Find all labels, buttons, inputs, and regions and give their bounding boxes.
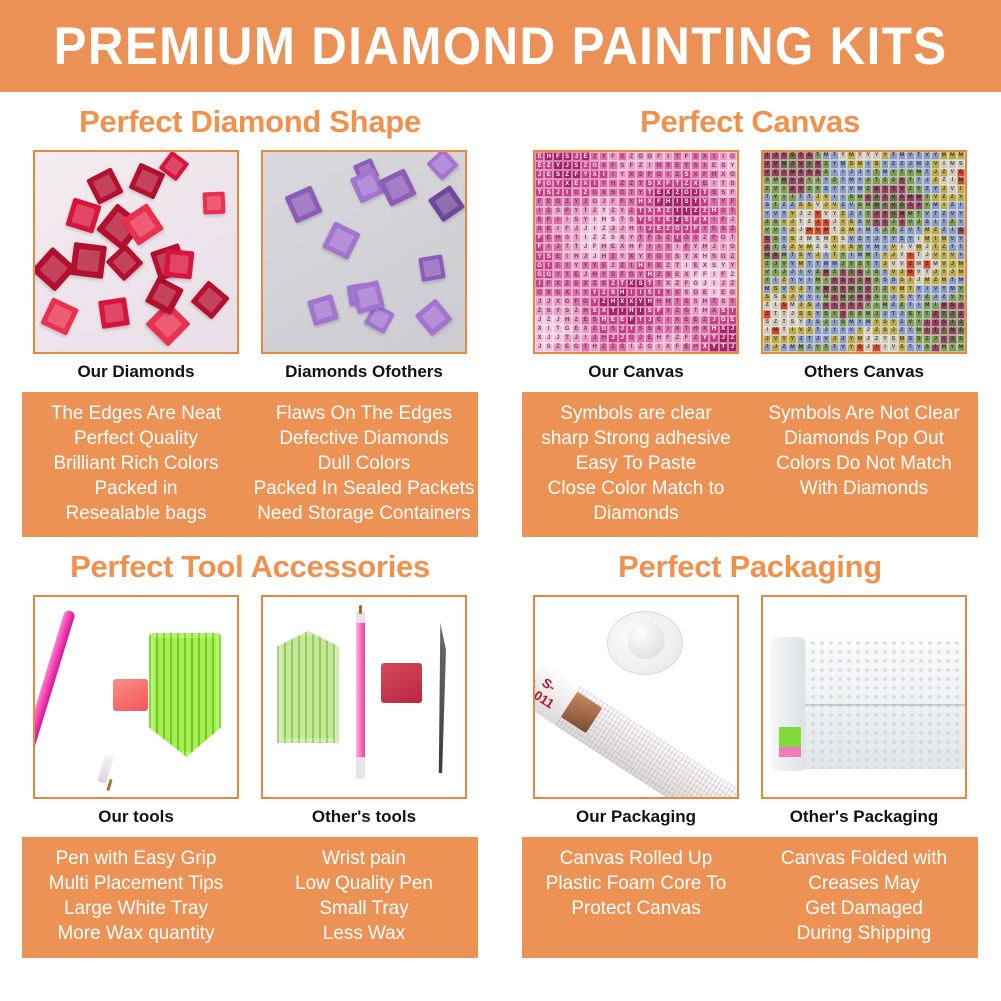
- canvas-symbol-cell: M: [771, 177, 779, 185]
- canvas-symbol-cell: S: [856, 260, 864, 268]
- canvas-symbol-cell: M: [847, 285, 855, 293]
- canvas-symbol-cell: S: [771, 294, 779, 302]
- canvas-symbol-cell: S: [719, 188, 728, 197]
- canvas-symbol-cell: T: [805, 194, 813, 202]
- canvas-symbol-cell: Z: [544, 207, 553, 216]
- canvas-symbol-cell: S: [691, 234, 700, 243]
- canvas-symbol-cell: Y: [822, 177, 830, 185]
- canvas-symbol-cell: T: [864, 260, 872, 268]
- canvas-symbol-cell: M: [957, 260, 965, 268]
- canvas-symbol-cell: M: [957, 344, 965, 352]
- canvas-symbol-cell: Z: [728, 270, 737, 279]
- canvas-symbol-cell: T: [618, 279, 627, 288]
- canvas-symbol-cell: Z: [822, 169, 830, 177]
- canvas-symbol-cell: V: [906, 152, 914, 160]
- canvas-symbol-cell: V: [889, 260, 897, 268]
- canvas-symbol-cell: Y: [906, 327, 914, 335]
- canvas-symbol-cell: X: [719, 170, 728, 179]
- canvas-symbol-cell: E: [544, 234, 553, 243]
- canvas-symbol-cell: I: [948, 177, 956, 185]
- canvas-symbol-cell: I: [563, 252, 572, 261]
- others-packaging-line: Get Damaged: [753, 896, 974, 921]
- canvas-symbol-cell: T: [797, 194, 805, 202]
- canvas-symbol-cell: I: [763, 327, 771, 335]
- canvas-symbol-cell: I: [771, 302, 779, 310]
- canvas-symbol-cell: M: [948, 152, 956, 160]
- canvas-symbol-cell: S: [856, 219, 864, 227]
- canvas-symbol-cell: I: [728, 307, 737, 316]
- canvas-symbol-cell: Z: [940, 294, 948, 302]
- canvas-symbol-cell: Z: [906, 260, 914, 268]
- canvas-symbol-cell: I: [814, 294, 822, 302]
- canvas-symbol-cell: J: [805, 210, 813, 218]
- canvas-symbol-cell: E: [572, 179, 581, 188]
- canvas-symbol-cell: J: [948, 269, 956, 277]
- canvas-symbol-cell: V: [830, 244, 838, 252]
- canvas-symbol-cell: Z: [599, 288, 608, 297]
- ours-diamond-shape-line: Brilliant Rich Colors: [25, 451, 246, 476]
- canvas-symbol-cell: Y: [847, 335, 855, 343]
- canvas-symbol-cell: Z: [931, 277, 939, 285]
- canvas-symbol-cell: J: [572, 152, 581, 161]
- canvas-symbol-cell: M: [940, 302, 948, 310]
- canvas-symbol-cell: M: [864, 310, 872, 318]
- canvas-symbol-cell: T: [682, 325, 691, 334]
- canvas-symbol-cell: Y: [636, 216, 645, 225]
- canvas-symbol-cell: T: [906, 285, 914, 293]
- canvas-symbol-cell: Y: [923, 269, 931, 277]
- canvas-symbol-cell: M: [847, 152, 855, 160]
- canvas-symbol-cell: Y: [797, 319, 805, 327]
- canvas-symbol-cell: J: [957, 310, 965, 318]
- canvas-symbol-cell: M: [797, 344, 805, 352]
- canvas-symbol-cell: T: [830, 235, 838, 243]
- canvas-symbol-cell: Y: [599, 152, 608, 161]
- canvas-symbol-cell: Z: [618, 261, 627, 270]
- canvas-symbol-cell: M: [839, 294, 847, 302]
- canvas-symbol-cell: S: [780, 244, 788, 252]
- red-drill: [202, 192, 225, 215]
- canvas-symbol-cell: Z: [608, 261, 617, 270]
- canvas-symbol-cell: J: [847, 169, 855, 177]
- canvas-symbol-cell: Z: [728, 225, 737, 234]
- canvas-symbol-cell: Z: [636, 161, 645, 170]
- canvas-symbol-cell: I: [788, 327, 796, 335]
- canvas-symbol-cell: T: [709, 297, 718, 306]
- canvas-symbol-cell: I: [563, 188, 572, 197]
- canvas-symbol-cell: M: [915, 194, 923, 202]
- canvas-symbol-cell: T: [805, 319, 813, 327]
- canvas-symbol-cell: Y: [805, 177, 813, 185]
- canvas-symbol-cell: S: [839, 235, 847, 243]
- canvas-symbol-cell: S: [872, 227, 880, 235]
- tube-cap-inner-icon: [627, 621, 665, 659]
- canvas-symbol-cell: M: [923, 235, 931, 243]
- canvas-symbol-cell: J: [923, 244, 931, 252]
- canvas-symbol-cell: M: [915, 260, 923, 268]
- canvas-symbol-cell: J: [814, 302, 822, 310]
- page-title: PREMIUM DIAMOND PAINTING KITS: [54, 16, 948, 77]
- canvas-symbol-cell: V: [931, 285, 939, 293]
- red-drill: [190, 280, 230, 320]
- canvas-symbol-cell: J: [847, 294, 855, 302]
- canvas-symbol-cell: Y: [864, 235, 872, 243]
- canvas-symbol-cell: I: [915, 302, 923, 310]
- canvas-symbol-cell: M: [923, 277, 931, 285]
- canvas-symbol-cell: M: [780, 252, 788, 260]
- purple-drill: [428, 185, 466, 223]
- canvas-symbol-cell: J: [856, 210, 864, 218]
- canvas-symbol-cell: S: [572, 216, 581, 225]
- canvas-symbol-cell: Y: [830, 160, 838, 168]
- canvas-symbol-cell: T: [780, 210, 788, 218]
- canvas-symbol-cell: G: [627, 270, 636, 279]
- canvas-symbol-cell: Z: [673, 307, 682, 316]
- canvas-symbol-cell: Z: [627, 207, 636, 216]
- canvas-symbol-cell: F: [691, 270, 700, 279]
- canvas-symbol-cell: J: [563, 161, 572, 170]
- canvas-symbol-cell: G: [654, 252, 663, 261]
- canvas-symbol-cell: Z: [608, 279, 617, 288]
- canvas-symbol-cell: I: [608, 170, 617, 179]
- canvas-symbol-cell: F: [682, 152, 691, 161]
- canvas-symbol-cell: V: [847, 327, 855, 335]
- caption-other-packaging: Other's Packaging: [761, 807, 967, 827]
- red-drill: [164, 249, 195, 280]
- canvas-symbol-cell: Y: [915, 185, 923, 193]
- canvas-symbol-cell: J: [763, 160, 771, 168]
- canvas-symbol-cell: T: [957, 244, 965, 252]
- canvas-symbol-cell: V: [780, 260, 788, 268]
- red-drill: [145, 276, 184, 315]
- canvas-symbol-cell: V: [763, 227, 771, 235]
- canvas-symbol-cell: G: [618, 188, 627, 197]
- canvas-symbol-cell: Z: [581, 188, 590, 197]
- canvas-symbol-cell: F: [654, 152, 663, 161]
- canvas-symbol-cell: S: [673, 252, 682, 261]
- canvas-symbol-cell: S: [608, 270, 617, 279]
- canvas-symbol-cell: S: [856, 202, 864, 210]
- canvas-symbol-cell: F: [535, 179, 544, 188]
- canvas-tube-icon: S-011: [533, 663, 739, 799]
- canvas-symbol-cell: S: [563, 307, 572, 316]
- canvas-symbol-cell: X: [691, 170, 700, 179]
- canvas-symbol-cell: X: [627, 297, 636, 306]
- canvas-symbol-cell: I: [636, 288, 645, 297]
- canvas-symbol-cell: Z: [898, 319, 906, 327]
- canvas-symbol-cell: S: [797, 252, 805, 260]
- canvas-symbol-cell: Z: [700, 207, 709, 216]
- canvas-symbol-cell: J: [544, 334, 553, 343]
- our-diamonds-photo: [33, 150, 239, 354]
- canvas-symbol-cell: S: [957, 335, 965, 343]
- canvas-symbol-cell: S: [822, 310, 830, 318]
- canvas-symbol-cell: T: [906, 344, 914, 352]
- canvas-symbol-cell: Z: [780, 202, 788, 210]
- canvas-symbol-cell: J: [728, 343, 737, 352]
- canvas-symbol-cell: S: [830, 285, 838, 293]
- other-tools-photo: [261, 595, 467, 799]
- canvas-symbol-cell: J: [719, 279, 728, 288]
- small-green-tray-icon: [277, 631, 339, 743]
- canvas-symbol-cell: J: [957, 319, 965, 327]
- canvas-symbol-cell: X: [627, 197, 636, 206]
- canvas-symbol-cell: S: [805, 310, 813, 318]
- canvas-symbol-cell: I: [780, 185, 788, 193]
- canvas-symbol-cell: I: [957, 185, 965, 193]
- canvas-symbol-cell: T: [830, 252, 838, 260]
- canvas-symbol-cell: Z: [771, 319, 779, 327]
- canvas-symbol-cell: S: [544, 343, 553, 352]
- canvas-symbol-cell: Y: [889, 169, 897, 177]
- canvas-symbol-cell: Y: [889, 319, 897, 327]
- canvas-symbol-cell: I: [544, 261, 553, 270]
- our-packaging-photo: S-011: [533, 595, 739, 799]
- canvas-symbol-cell: V: [948, 169, 956, 177]
- compare-panel-tools: Pen with Easy GripMulti Placement TipsLa…: [22, 837, 478, 958]
- canvas-symbol-cell: Y: [839, 252, 847, 260]
- canvas-symbol-cell: Y: [872, 219, 880, 227]
- canvas-symbol-cell: I: [898, 244, 906, 252]
- canvas-symbol-cell: I: [654, 343, 663, 352]
- canvas-symbol-cell: S: [771, 235, 779, 243]
- canvas-symbol-cell: F: [627, 316, 636, 325]
- canvas-symbol-cell: X: [553, 279, 562, 288]
- canvas-symbol-cell: Z: [839, 202, 847, 210]
- canvas-symbol-cell: J: [814, 219, 822, 227]
- canvas-symbol-cell: I: [830, 302, 838, 310]
- canvas-symbol-cell: V: [906, 219, 914, 227]
- canvas-symbol-cell: S: [797, 202, 805, 210]
- canvas-symbol-cell: J: [864, 269, 872, 277]
- canvas-symbol-cell: M: [788, 169, 796, 177]
- canvas-symbol-cell: V: [847, 202, 855, 210]
- canvas-symbol-cell: S: [814, 235, 822, 243]
- canvas-symbol-cell: H: [691, 325, 700, 334]
- caption-row-packaging: Our Packaging Other's Packaging: [500, 807, 1000, 827]
- canvas-symbol-cell: X: [599, 307, 608, 316]
- canvas-symbol-cell: J: [830, 335, 838, 343]
- canvas-symbol-cell: X: [673, 316, 682, 325]
- canvas-symbol-cell: T: [572, 234, 581, 243]
- canvas-symbol-cell: T: [889, 310, 897, 318]
- canvas-symbol-cell: Z: [940, 210, 948, 218]
- canvas-symbol-cell: F: [673, 343, 682, 352]
- canvas-symbol-cell: Y: [915, 285, 923, 293]
- canvas-symbol-cell: M: [771, 327, 779, 335]
- canvas-symbol-cell: Y: [535, 252, 544, 261]
- canvas-symbol-cell: V: [889, 210, 897, 218]
- canvas-symbol-cell: T: [780, 310, 788, 318]
- canvas-symbol-cell: T: [728, 234, 737, 243]
- canvas-symbol-cell: T: [931, 210, 939, 218]
- canvas-symbol-cell: F: [682, 243, 691, 252]
- canvas-symbol-cell: I: [581, 334, 590, 343]
- section-packaging: Perfect Packaging S-011: [500, 537, 1000, 958]
- canvas-symbol-cell: M: [780, 177, 788, 185]
- canvas-symbol-cell: I: [830, 169, 838, 177]
- canvas-symbol-cell: X: [691, 252, 700, 261]
- canvas-symbol-cell: Y: [931, 319, 939, 327]
- canvas-symbol-cell: S: [590, 307, 599, 316]
- canvas-symbol-cell: T: [915, 210, 923, 218]
- canvas-symbol-cell: V: [780, 152, 788, 160]
- canvas-symbol-cell: X: [590, 170, 599, 179]
- canvas-symbol-cell: G: [581, 297, 590, 306]
- canvas-symbol-cell: M: [948, 285, 956, 293]
- canvas-symbol-cell: S: [553, 207, 562, 216]
- canvas-symbol-cell: J: [931, 269, 939, 277]
- canvas-symbol-cell: Z: [889, 160, 897, 168]
- canvas-symbol-cell: Y: [788, 177, 796, 185]
- canvas-symbol-cell: J: [572, 334, 581, 343]
- canvas-symbol-cell: Y: [881, 160, 889, 168]
- canvas-symbol-cell: S: [847, 160, 855, 168]
- ours-list-canvas: Symbols are clearsharp Strong adhesiveEa…: [525, 401, 746, 526]
- canvas-symbol-cell: I: [645, 243, 654, 252]
- canvas-symbol-cell: I: [664, 325, 673, 334]
- canvas-symbol-cell: M: [822, 285, 830, 293]
- canvas-symbol-cell: E: [553, 252, 562, 261]
- canvas-symbol-cell: Z: [608, 343, 617, 352]
- canvas-symbol-cell: H: [709, 325, 718, 334]
- canvas-symbol-cell: J: [797, 285, 805, 293]
- canvas-symbol-cell: T: [763, 194, 771, 202]
- canvas-symbol-cell: S: [636, 325, 645, 334]
- canvas-symbol-cell: E: [572, 270, 581, 279]
- canvas-symbol-cell: S: [872, 269, 880, 277]
- canvas-symbol-cell: Z: [544, 316, 553, 325]
- canvas-symbol-cell: T: [780, 227, 788, 235]
- canvas-symbol-cell: T: [805, 260, 813, 268]
- canvas-symbol-cell: M: [788, 344, 796, 352]
- caption-our-packaging: Our Packaging: [533, 807, 739, 827]
- canvas-symbol-cell: M: [957, 277, 965, 285]
- red-drill: [40, 297, 79, 336]
- canvas-symbol-cell: H: [563, 316, 572, 325]
- ours-list-diamond-shape: The Edges Are NeatPerfect QualityBrillia…: [25, 401, 246, 526]
- section-title-packaging: Perfect Packaging: [500, 549, 1000, 585]
- canvas-symbol-cell: J: [898, 219, 906, 227]
- canvas-symbol-cell: I: [780, 194, 788, 202]
- canvas-symbol-cell: X: [719, 325, 728, 334]
- canvas-symbol-cell: Y: [856, 152, 864, 160]
- canvas-symbol-cell: S: [957, 227, 965, 235]
- canvas-symbol-cell: Y: [948, 344, 956, 352]
- canvas-symbol-cell: I: [664, 170, 673, 179]
- canvas-symbol-cell: V: [889, 194, 897, 202]
- canvas-symbol-cell: S: [923, 344, 931, 352]
- canvas-symbol-cell: Z: [923, 335, 931, 343]
- canvas-symbol-cell: V: [797, 160, 805, 168]
- canvas-symbol-cell: J: [780, 269, 788, 277]
- canvas-symbol-cell: Z: [763, 219, 771, 227]
- canvas-symbol-cell: J: [957, 302, 965, 310]
- canvas-symbol-cell: I: [881, 202, 889, 210]
- canvas-symbol-cell: H: [700, 297, 709, 306]
- canvas-symbol-cell: T: [572, 243, 581, 252]
- purple-drill: [418, 254, 446, 282]
- canvas-symbol-cell: Z: [771, 169, 779, 177]
- canvas-symbol-cell: Y: [636, 188, 645, 197]
- canvas-symbol-cell: V: [771, 185, 779, 193]
- canvas-symbol-cell: S: [599, 279, 608, 288]
- canvas-symbol-cell: Z: [763, 244, 771, 252]
- canvas-symbol-cell: M: [856, 194, 864, 202]
- canvas-symbol-cell: Y: [915, 202, 923, 210]
- canvas-symbol-cell: T: [636, 316, 645, 325]
- others-packaging-line: During Shipping: [753, 921, 974, 946]
- canvas-symbol-cell: M: [822, 235, 830, 243]
- canvas-symbol-cell: J: [788, 219, 796, 227]
- canvas-symbol-cell: S: [719, 297, 728, 306]
- canvas-symbol-cell: Y: [898, 252, 906, 260]
- canvas-symbol-cell: Z: [535, 307, 544, 316]
- canvas-symbol-cell: E: [654, 261, 663, 270]
- canvas-symbol-cell: Z: [763, 310, 771, 318]
- canvas-symbol-cell: J: [788, 294, 796, 302]
- others-diamond-shape-line: Dull Colors: [253, 451, 474, 476]
- canvas-symbol-cell: G: [599, 325, 608, 334]
- canvas-symbol-cell: S: [553, 288, 562, 297]
- canvas-symbol-cell: M: [856, 160, 864, 168]
- canvas-symbol-cell: F: [563, 207, 572, 216]
- canvas-symbol-cell: J: [590, 334, 599, 343]
- canvas-symbol-cell: S: [898, 194, 906, 202]
- canvas-symbol-cell: V: [906, 169, 914, 177]
- canvas-symbol-cell: H: [645, 270, 654, 279]
- canvas-symbol-cell: S: [682, 297, 691, 306]
- canvas-symbol-cell: H: [700, 252, 709, 261]
- compare-panel-canvas: Symbols are clearsharp Strong adhesiveEa…: [522, 392, 978, 537]
- canvas-symbol-cell: E: [553, 261, 562, 270]
- canvas-symbol-cell: T: [780, 327, 788, 335]
- canvas-symbol-cell: T: [889, 152, 897, 160]
- canvas-symbol-cell: V: [814, 202, 822, 210]
- canvas-symbol-cell: S: [856, 269, 864, 277]
- canvas-symbol-cell: Y: [763, 277, 771, 285]
- canvas-symbol-cell: S: [881, 327, 889, 335]
- canvas-symbol-cell: E: [535, 216, 544, 225]
- canvas-symbol-cell: G: [719, 234, 728, 243]
- canvas-symbol-cell: Y: [864, 152, 872, 160]
- canvas-symbol-cell: G: [673, 225, 682, 234]
- canvas-symbol-cell: F: [645, 234, 654, 243]
- canvas-symbol-cell: Z: [872, 327, 880, 335]
- canvas-symbol-cell: Y: [805, 252, 813, 260]
- canvas-symbol-cell: I: [709, 288, 718, 297]
- canvas-symbol-cell: H: [654, 297, 663, 306]
- canvas-symbol-cell: J: [797, 177, 805, 185]
- canvas-symbol-cell: H: [627, 243, 636, 252]
- canvas-symbol-cell: Y: [864, 169, 872, 177]
- canvas-symbol-cell: S: [544, 252, 553, 261]
- canvas-symbol-cell: J: [814, 177, 822, 185]
- canvas-symbol-cell: H: [581, 307, 590, 316]
- canvas-symbol-cell: J: [864, 285, 872, 293]
- canvas-symbol-cell: T: [673, 261, 682, 270]
- canvas-symbol-cell: H: [664, 297, 673, 306]
- canvas-symbol-cell: G: [572, 343, 581, 352]
- canvas-symbol-cell: Y: [839, 285, 847, 293]
- canvas-symbol-cell: Y: [636, 270, 645, 279]
- canvas-symbol-cell: G: [544, 270, 553, 279]
- canvas-symbol-cell: J: [535, 170, 544, 179]
- canvas-symbol-cell: T: [535, 188, 544, 197]
- canvas-symbol-cell: I: [864, 160, 872, 168]
- canvas-symbol-cell: S: [719, 207, 728, 216]
- canvas-symbol-cell: I: [627, 261, 636, 270]
